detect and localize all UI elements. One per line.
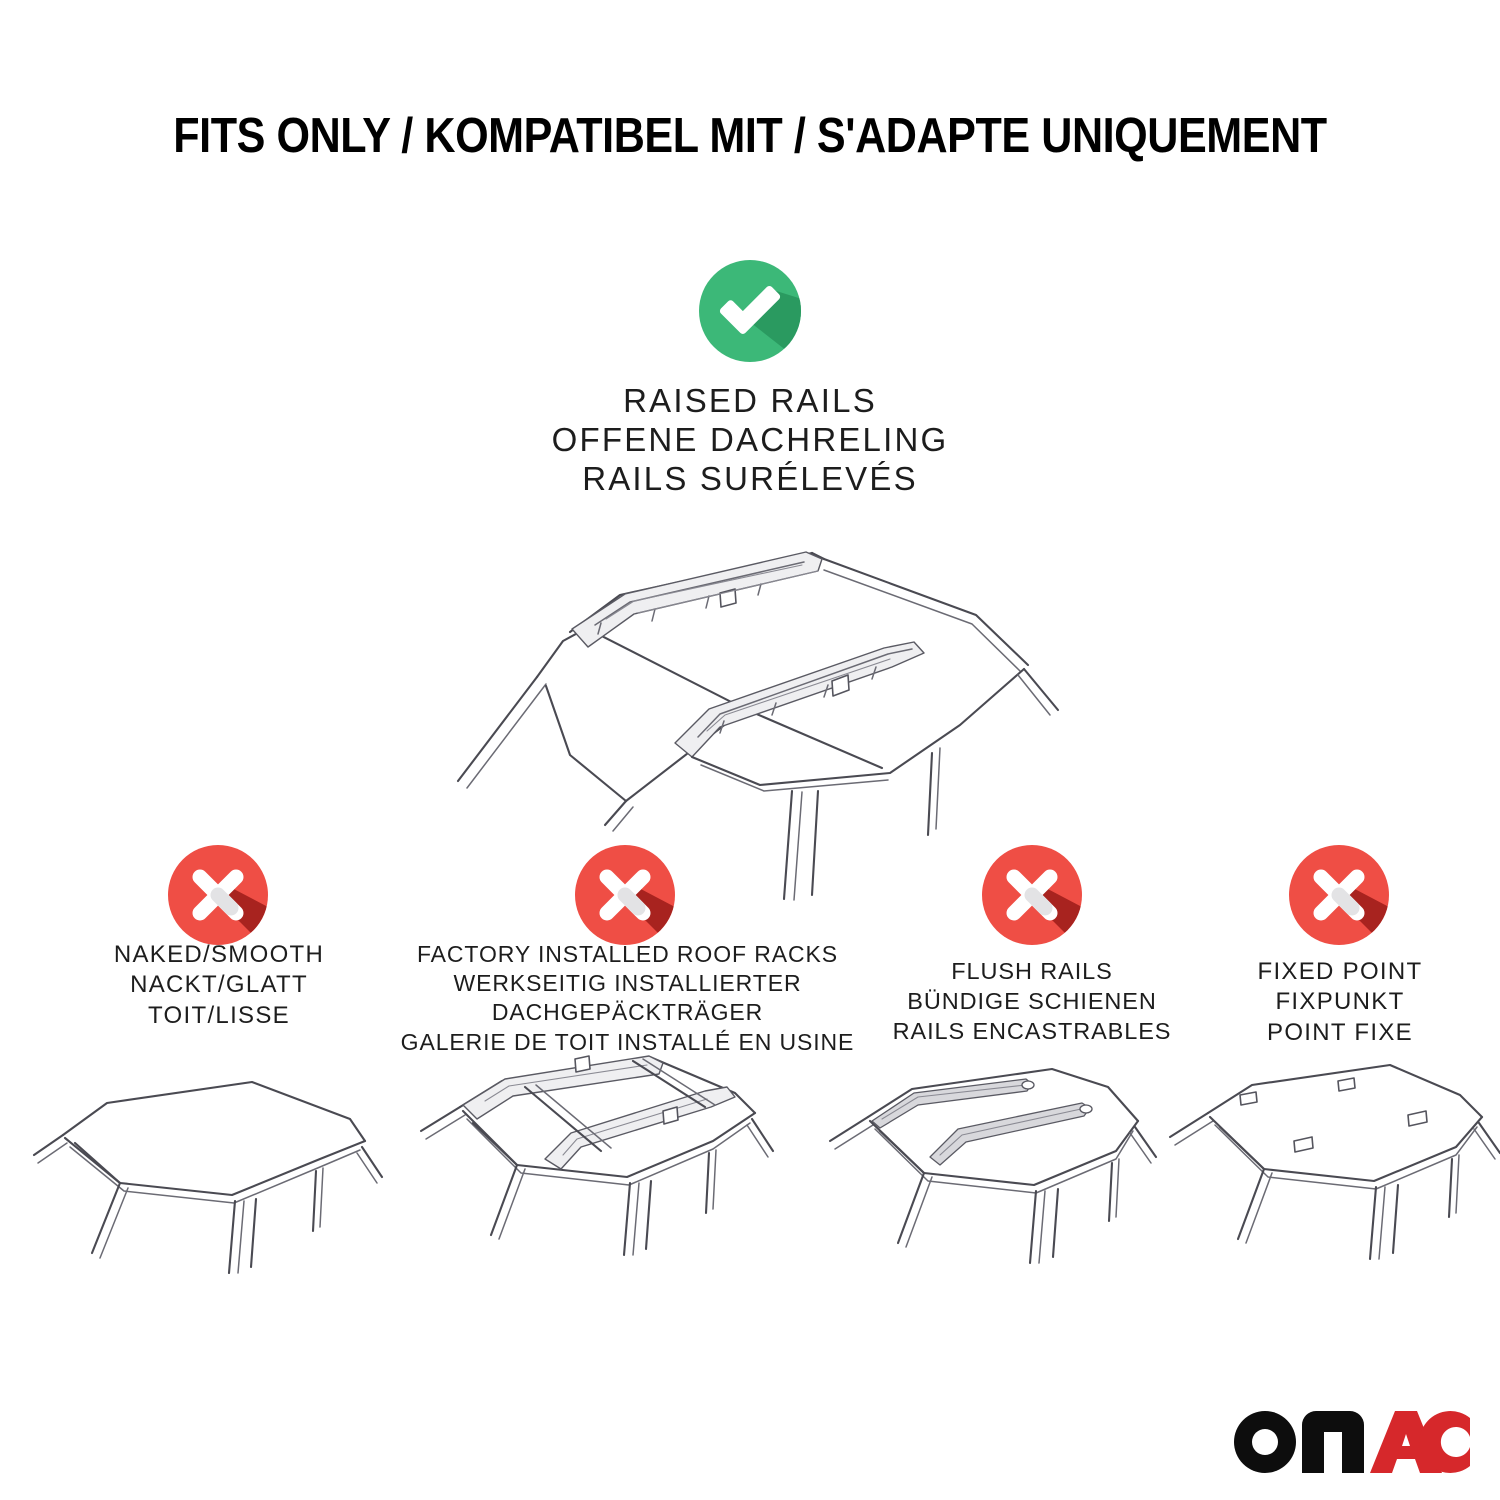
incompatible-1-line-2: NACKT/GLATT <box>24 970 414 1000</box>
cross-circle-icon <box>168 845 268 945</box>
incompatible-label-1: NAKED/SMOOTH NACKT/GLATT TOIT/LISSE <box>24 940 414 1031</box>
car-roof-flush-rails-illustration <box>820 1055 1200 1295</box>
cross-circle-icon <box>575 845 675 945</box>
incompatible-label-4: FIXED POINT FIXPUNKT POINT FIXE <box>1215 957 1465 1048</box>
incompatible-label-3: FLUSH RAILS BÜNDIGE SCHIENEN RAILS ENCAS… <box>862 957 1202 1047</box>
compatible-label-line-1: RAISED RAILS <box>0 382 1500 421</box>
incompatible-1-line-3: TOIT/LISSE <box>24 1001 414 1031</box>
compatible-label-line-3: RAILS SURÉLEVÉS <box>0 460 1500 499</box>
check-circle-icon <box>699 260 801 362</box>
omac-logo <box>1232 1406 1472 1478</box>
incompatible-2-line-3: DACHGEPÄCKTRÄGER <box>395 998 860 1027</box>
incompatible-label-2: FACTORY INSTALLED ROOF RACKS WERKSEITIG … <box>395 940 860 1057</box>
incompatible-4-line-2: FIXPUNKT <box>1215 987 1465 1017</box>
incompatible-3-line-1: FLUSH RAILS <box>862 957 1202 987</box>
car-roof-factory-roof-racks-illustration <box>405 1055 785 1295</box>
compatible-label: RAISED RAILS OFFENE DACHRELING RAILS SUR… <box>0 382 1500 499</box>
car-roof-fixed-point-illustration <box>1160 1055 1500 1295</box>
incompatible-3-line-3: RAILS ENCASTRABLES <box>862 1017 1202 1047</box>
incompatible-4-line-3: POINT FIXE <box>1215 1018 1465 1048</box>
incompatible-3-line-2: BÜNDIGE SCHIENEN <box>862 987 1202 1017</box>
incompatible-2-line-1: FACTORY INSTALLED ROOF RACKS <box>395 940 860 969</box>
compatibility-chart: FITS ONLY / KOMPATIBEL MIT / S'ADAPTE UN… <box>0 0 1500 1500</box>
incompatible-4-line-1: FIXED POINT <box>1215 957 1465 987</box>
cross-circle-icon <box>982 845 1082 945</box>
incompatible-1-line-1: NAKED/SMOOTH <box>24 940 414 970</box>
cross-circle-icon <box>1289 845 1389 945</box>
car-roof-raised-rails-illustration <box>420 495 1080 835</box>
incompatible-2-line-4: GALERIE DE TOIT INSTALLÉ EN USINE <box>395 1028 860 1057</box>
car-roof-naked-smooth-illustration <box>20 1055 390 1295</box>
compatible-label-line-2: OFFENE DACHRELING <box>0 421 1500 460</box>
incompatible-2-line-2: WERKSEITIG INSTALLIERTER <box>395 969 860 998</box>
page-title: FITS ONLY / KOMPATIBEL MIT / S'ADAPTE UN… <box>90 108 1410 164</box>
